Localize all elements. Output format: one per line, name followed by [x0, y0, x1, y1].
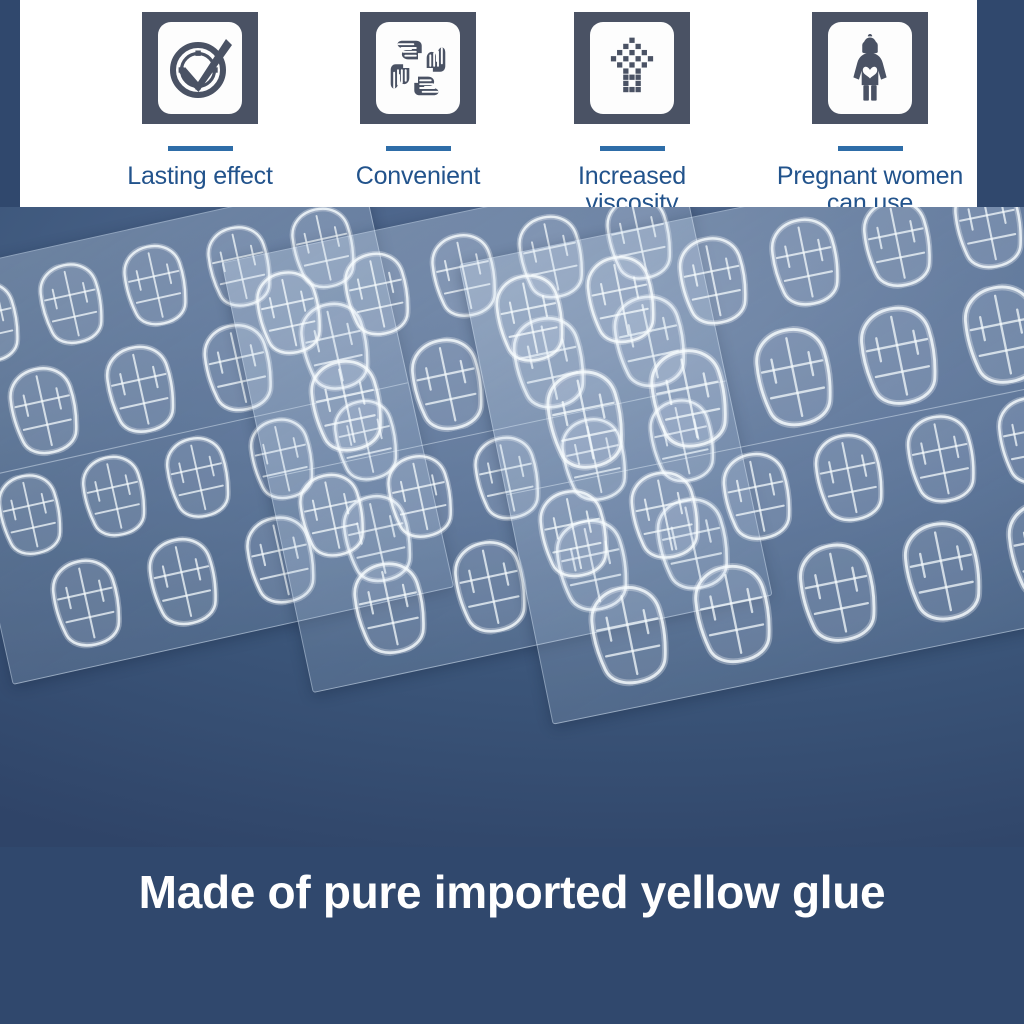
- feature-accent-rule: [838, 146, 903, 151]
- clock-check-icon: [158, 22, 242, 114]
- four-hands-icon: [376, 22, 460, 114]
- feature-icon-box: [574, 12, 690, 124]
- nail-tab: [893, 407, 989, 511]
- nail-tab: [993, 492, 1024, 609]
- nail-tab: [784, 534, 892, 651]
- nail-tab: [709, 445, 805, 549]
- nail-tab: [244, 263, 336, 363]
- nail-tab: [575, 577, 683, 694]
- nail-tab: [740, 318, 848, 435]
- nail-tab: [801, 426, 897, 530]
- checkered-up-arrow-icon: [590, 22, 674, 114]
- feature-icon-box: [142, 12, 258, 124]
- feature-accent-rule: [386, 146, 451, 151]
- nail-tab: [296, 351, 398, 460]
- nail-tab: [0, 466, 75, 563]
- feature-banner: Lasting effect: [20, 0, 977, 207]
- nail-tab: [0, 274, 33, 371]
- nail-tab: [135, 529, 233, 634]
- nail-tab: [679, 556, 787, 673]
- nail-tab: [153, 429, 243, 526]
- feature-icon-box: [360, 12, 476, 124]
- nail-tab: [941, 207, 1024, 277]
- nail-tab: [849, 207, 945, 295]
- nail-tab: [618, 463, 714, 567]
- feature-label: Lasting effect: [127, 163, 272, 190]
- feature-icon-box: [812, 12, 928, 124]
- nail-tab: [526, 482, 622, 586]
- pregnant-woman-icon: [828, 22, 912, 114]
- nail-tab: [757, 210, 853, 314]
- nail-tab: [92, 337, 190, 442]
- nail-tab: [286, 465, 378, 565]
- feature-accent-rule: [600, 146, 665, 151]
- tagline: Made of pure imported yellow glue: [0, 865, 1024, 919]
- feature-item-convenient: Convenient: [338, 0, 498, 190]
- nail-tab: [888, 513, 996, 630]
- feature-item-lasting-effect: Lasting effect: [120, 0, 280, 190]
- nail-tab: [38, 550, 136, 655]
- nail-tab: [635, 339, 743, 456]
- nail-tab: [69, 447, 159, 544]
- feature-label: Convenient: [356, 163, 480, 190]
- nail-tab: [574, 247, 670, 351]
- feature-item-increased-viscosity: Increased viscosity: [552, 0, 712, 216]
- nail-tab: [482, 266, 578, 370]
- product-photo: [0, 207, 1024, 847]
- nail-tab: [111, 237, 201, 334]
- nail-tab: [985, 389, 1024, 493]
- nail-tab: [27, 255, 117, 352]
- nail-tab: [665, 228, 761, 332]
- nail-tab: [374, 446, 466, 546]
- nail-tab: [845, 297, 953, 414]
- nail-tab: [0, 358, 93, 463]
- nail-tab: [339, 553, 441, 662]
- feature-item-pregnant-women-can-use: Pregnant women can use: [760, 0, 980, 216]
- nail-tab: [331, 244, 423, 344]
- feature-accent-rule: [168, 146, 233, 151]
- nail-tab: [949, 276, 1024, 393]
- nail-tab: [531, 361, 639, 478]
